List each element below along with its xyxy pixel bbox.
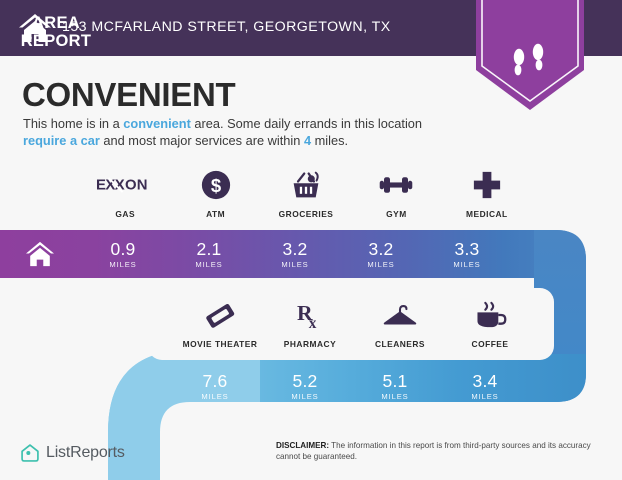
exxon-logo-icon: E X X O N bbox=[96, 168, 154, 202]
summary-part-4: miles. bbox=[311, 133, 348, 148]
amenity-label: GYM bbox=[386, 209, 407, 219]
amenity-pharmacy: R x PHARMACY bbox=[265, 298, 355, 349]
summary-part-1: This home is in a bbox=[23, 116, 123, 131]
amenity-groceries: GROCERIES bbox=[261, 168, 351, 219]
distance-cell-atm: 2.1 MILES bbox=[166, 230, 252, 278]
amenity-coffee: COFFEE bbox=[445, 298, 535, 349]
svg-text:$: $ bbox=[210, 175, 221, 196]
movie-ticket-icon bbox=[204, 298, 236, 332]
area-report-infographic: 153 MCFARLAND STREET, GEORGETOWN, TX ARE… bbox=[0, 0, 622, 480]
grocery-basket-icon bbox=[290, 168, 322, 202]
amenity-label: MOVIE THEATER bbox=[183, 339, 258, 349]
distance-unit: MILES bbox=[109, 260, 136, 269]
summary-part-3: and most major services are within bbox=[100, 133, 304, 148]
distance-unit: MILES bbox=[453, 260, 480, 269]
distance-unit: MILES bbox=[367, 260, 394, 269]
distance-value: 3.2 bbox=[283, 240, 308, 259]
distance-cell-pharmacy: 5.2 MILES bbox=[260, 362, 350, 410]
distance-cell-coffee: 3.4 MILES bbox=[440, 362, 530, 410]
distance-unit: MILES bbox=[381, 392, 408, 401]
distance-value: 3.4 bbox=[473, 372, 498, 391]
home-icon bbox=[25, 240, 55, 268]
dumbbell-icon bbox=[378, 168, 414, 202]
amenity-movie-theater: MOVIE THEATER bbox=[175, 298, 265, 349]
summary-highlight-require-a-car: require a car bbox=[23, 133, 100, 148]
distance-row-primary: 0.9 MILES 2.1 MILES 3.2 MILES 3.2 MILES … bbox=[0, 230, 510, 278]
dollar-circle-icon: $ bbox=[201, 168, 231, 202]
distance-cell-groceries: 3.2 MILES bbox=[252, 230, 338, 278]
amenity-label: CLEANERS bbox=[375, 339, 425, 349]
amenity-icon-row-secondary: MOVIE THEATER R x PHARMACY CLEANERS bbox=[175, 298, 535, 349]
summary-part-2: area. Some daily errands in this locatio… bbox=[191, 116, 422, 131]
svg-text:N: N bbox=[137, 178, 148, 194]
distance-unit: MILES bbox=[195, 260, 222, 269]
distance-cell-gas: 0.9 MILES bbox=[80, 230, 166, 278]
amenity-medical: MEDICAL bbox=[442, 168, 532, 219]
distance-unit: MILES bbox=[201, 392, 228, 401]
amenity-gym: GYM bbox=[351, 168, 441, 219]
distance-unit: MILES bbox=[281, 260, 308, 269]
summary-highlight-convenient: convenient bbox=[123, 116, 191, 131]
home-marker bbox=[0, 230, 80, 278]
distance-value: 7.6 bbox=[203, 372, 228, 391]
listreports-logo[interactable]: ListReports bbox=[20, 443, 125, 463]
amenity-cleaners: CLEANERS bbox=[355, 298, 445, 349]
distance-value: 3.3 bbox=[455, 240, 480, 259]
summary-text: This home is in a convenient area. Some … bbox=[23, 116, 453, 149]
distance-cell-movie-theater: 7.6 MILES bbox=[170, 362, 260, 410]
amenity-atm: $ ATM bbox=[170, 168, 260, 219]
distance-unit: MILES bbox=[471, 392, 498, 401]
distance-value: 2.1 bbox=[197, 240, 222, 259]
svg-text:x: x bbox=[308, 315, 316, 330]
amenity-label: ATM bbox=[206, 209, 225, 219]
svg-text:O: O bbox=[125, 178, 137, 194]
clothes-hanger-icon bbox=[382, 298, 418, 332]
distance-unit: MILES bbox=[291, 392, 318, 401]
distance-value: 5.1 bbox=[383, 372, 408, 391]
amenity-label: COFFEE bbox=[472, 339, 509, 349]
home-icon bbox=[18, 12, 52, 44]
distance-value: 0.9 bbox=[111, 240, 136, 259]
page-title: CONVENIENT bbox=[22, 76, 235, 114]
svg-text:E: E bbox=[96, 178, 106, 194]
amenity-label: GROCERIES bbox=[279, 209, 334, 219]
area-report-badge bbox=[474, 0, 586, 112]
disclaimer: DISCLAIMER: The information in this repo… bbox=[276, 441, 606, 462]
disclaimer-label: DISCLAIMER: bbox=[276, 441, 329, 450]
property-address: 153 MCFARLAND STREET, GEORGETOWN, TX bbox=[62, 19, 391, 35]
distance-row-secondary: 7.6 MILES 5.2 MILES 5.1 MILES 3.4 MILES bbox=[170, 362, 530, 410]
listreports-house-icon bbox=[20, 443, 40, 463]
summary-highlight-miles: 4 bbox=[304, 133, 311, 148]
coffee-cup-icon bbox=[474, 298, 507, 332]
distance-cell-medical: 3.3 MILES bbox=[424, 230, 510, 278]
amenity-label: PHARMACY bbox=[284, 339, 336, 349]
prescription-rx-icon: R x bbox=[297, 298, 324, 332]
amenity-label: GAS bbox=[115, 209, 135, 219]
distance-value: 5.2 bbox=[293, 372, 318, 391]
distance-cell-gym: 3.2 MILES bbox=[338, 230, 424, 278]
medical-cross-icon bbox=[473, 168, 501, 202]
listreports-logo-text: ListReports bbox=[46, 444, 125, 462]
amenity-gas: E X X O N GAS bbox=[80, 168, 170, 219]
distance-value: 3.2 bbox=[369, 240, 394, 259]
amenity-label: MEDICAL bbox=[466, 209, 508, 219]
amenity-icon-row-primary: E X X O N GAS $ ATM bbox=[80, 168, 532, 219]
distance-cell-cleaners: 5.1 MILES bbox=[350, 362, 440, 410]
